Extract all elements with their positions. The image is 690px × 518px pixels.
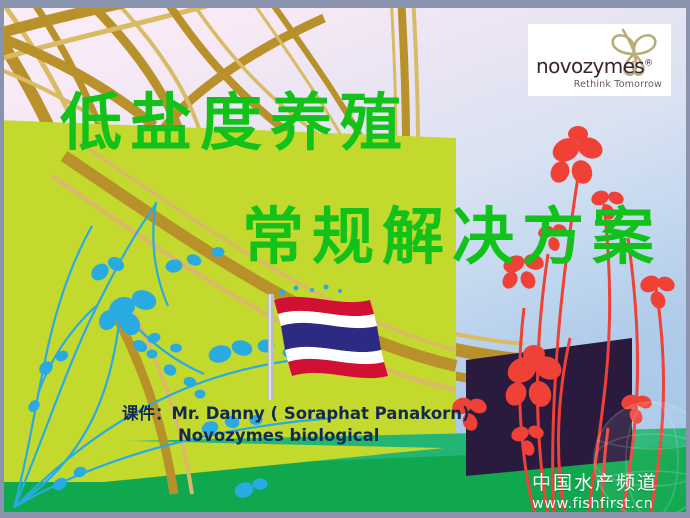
site-watermark: 中国水产频道 www.fishfirst.cn [532, 474, 682, 512]
presenter-credit-line-2: Novozymes biological [178, 426, 379, 445]
slide-title-line-2: 常规解决方案 [242, 206, 662, 268]
registered-mark: ® [644, 58, 652, 68]
watermark-chinese: 中国水产频道 [532, 474, 682, 493]
logo-wordmark: novozymes® [536, 54, 653, 78]
logo-tagline: Rethink Tomorrow [574, 79, 662, 90]
presenter-credit-line-1: 课件：Mr. Danny ( Soraphat Panakorn) [122, 400, 470, 424]
presentation-slide: 低盐度养殖 常规解决方案 课件：Mr. Danny ( Soraphat Pan… [0, 0, 690, 518]
slide-background: 低盐度养殖 常规解决方案 课件：Mr. Danny ( Soraphat Pan… [4, 8, 686, 512]
logo-wordmark-text: novozymes [536, 54, 644, 78]
watermark-url: www.fishfirst.cn [532, 496, 682, 512]
novozymes-logo: novozymes® Rethink Tomorrow [528, 24, 671, 96]
slide-title-line-1: 低盐度养殖 [60, 92, 410, 154]
